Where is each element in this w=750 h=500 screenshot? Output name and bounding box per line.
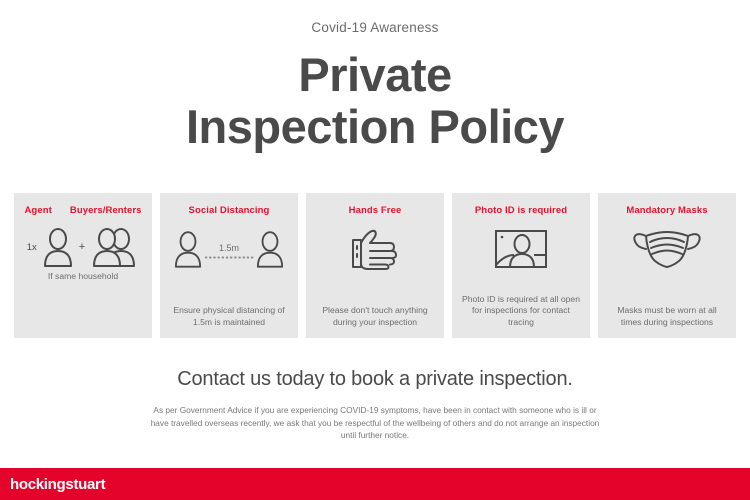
panel-masks: Mandatory Masks Masks mu bbox=[598, 193, 736, 338]
page-title-line1: Private bbox=[0, 49, 750, 101]
panel-attendance-note: If same household bbox=[48, 271, 118, 283]
face-mask-icon bbox=[632, 228, 702, 270]
panel-social-distancing-caption: Ensure physical distancing of 1.5m is ma… bbox=[160, 305, 298, 328]
panel-social-distancing-body: 1.5m bbox=[174, 227, 284, 271]
page-title-line2: Inspection Policy bbox=[0, 101, 750, 153]
plus-icon: + bbox=[79, 241, 85, 253]
panel-attendance-group bbox=[91, 227, 139, 267]
panel-masks-art bbox=[632, 225, 702, 273]
panel-heading-masks: Mandatory Masks bbox=[626, 205, 707, 217]
brand-logo: hockingstuart bbox=[10, 476, 105, 493]
people-pair-icon bbox=[91, 227, 139, 267]
header: Covid-19 Awareness Private Inspection Po… bbox=[0, 0, 750, 153]
panel-attendance-headings: Agent Buyers/Renters bbox=[14, 205, 152, 217]
distance-indicator: 1.5m bbox=[204, 227, 254, 271]
person-icon bbox=[43, 227, 73, 267]
panel-photo-id: Photo ID is required Photo ID is require… bbox=[452, 193, 590, 338]
panel-hands-free: Hands Free bbox=[306, 193, 444, 338]
person-icon bbox=[256, 229, 284, 269]
panel-hands-free-art bbox=[346, 225, 404, 273]
eyebrow-label: Covid-19 Awareness bbox=[0, 20, 750, 35]
disclaimer-text: As per Government Advice if you are expe… bbox=[150, 404, 600, 442]
panel-masks-caption: Masks must be worn at all times during i… bbox=[598, 305, 736, 328]
hand-icon bbox=[346, 227, 404, 271]
panel-heading-hands-free: Hands Free bbox=[349, 205, 402, 217]
footer-bar: hockingstuart bbox=[0, 468, 750, 500]
panel-social-distancing: Social Distancing 1.5m bbox=[160, 193, 298, 338]
cta-text: Contact us today to book a private inspe… bbox=[0, 368, 750, 391]
panel-heading-buyers-renters: Buyers/Renters bbox=[70, 205, 142, 217]
panel-photo-id-art bbox=[494, 225, 548, 273]
id-card-icon bbox=[494, 228, 548, 270]
panel-photo-id-caption: Photo ID is required at all open for ins… bbox=[452, 294, 590, 329]
panel-heading-agent: Agent bbox=[24, 205, 51, 217]
panel-heading-photo-id: Photo ID is required bbox=[475, 205, 567, 217]
page-title: Private Inspection Policy bbox=[0, 49, 750, 153]
person-icon bbox=[174, 229, 202, 269]
panel-attendance-body: 1x + bbox=[27, 227, 139, 267]
agent-multiplier-label: 1x bbox=[27, 242, 37, 253]
panel-row: Agent Buyers/Renters 1x + bbox=[14, 193, 736, 338]
poster-root: Covid-19 Awareness Private Inspection Po… bbox=[0, 0, 750, 500]
distance-label: 1.5m bbox=[219, 243, 239, 253]
panel-heading-social-distancing: Social Distancing bbox=[189, 205, 270, 217]
panel-hands-free-caption: Please don't touch anything during your … bbox=[306, 305, 444, 328]
dotted-line-icon bbox=[204, 256, 254, 259]
panel-attendance: Agent Buyers/Renters 1x + bbox=[14, 193, 152, 338]
